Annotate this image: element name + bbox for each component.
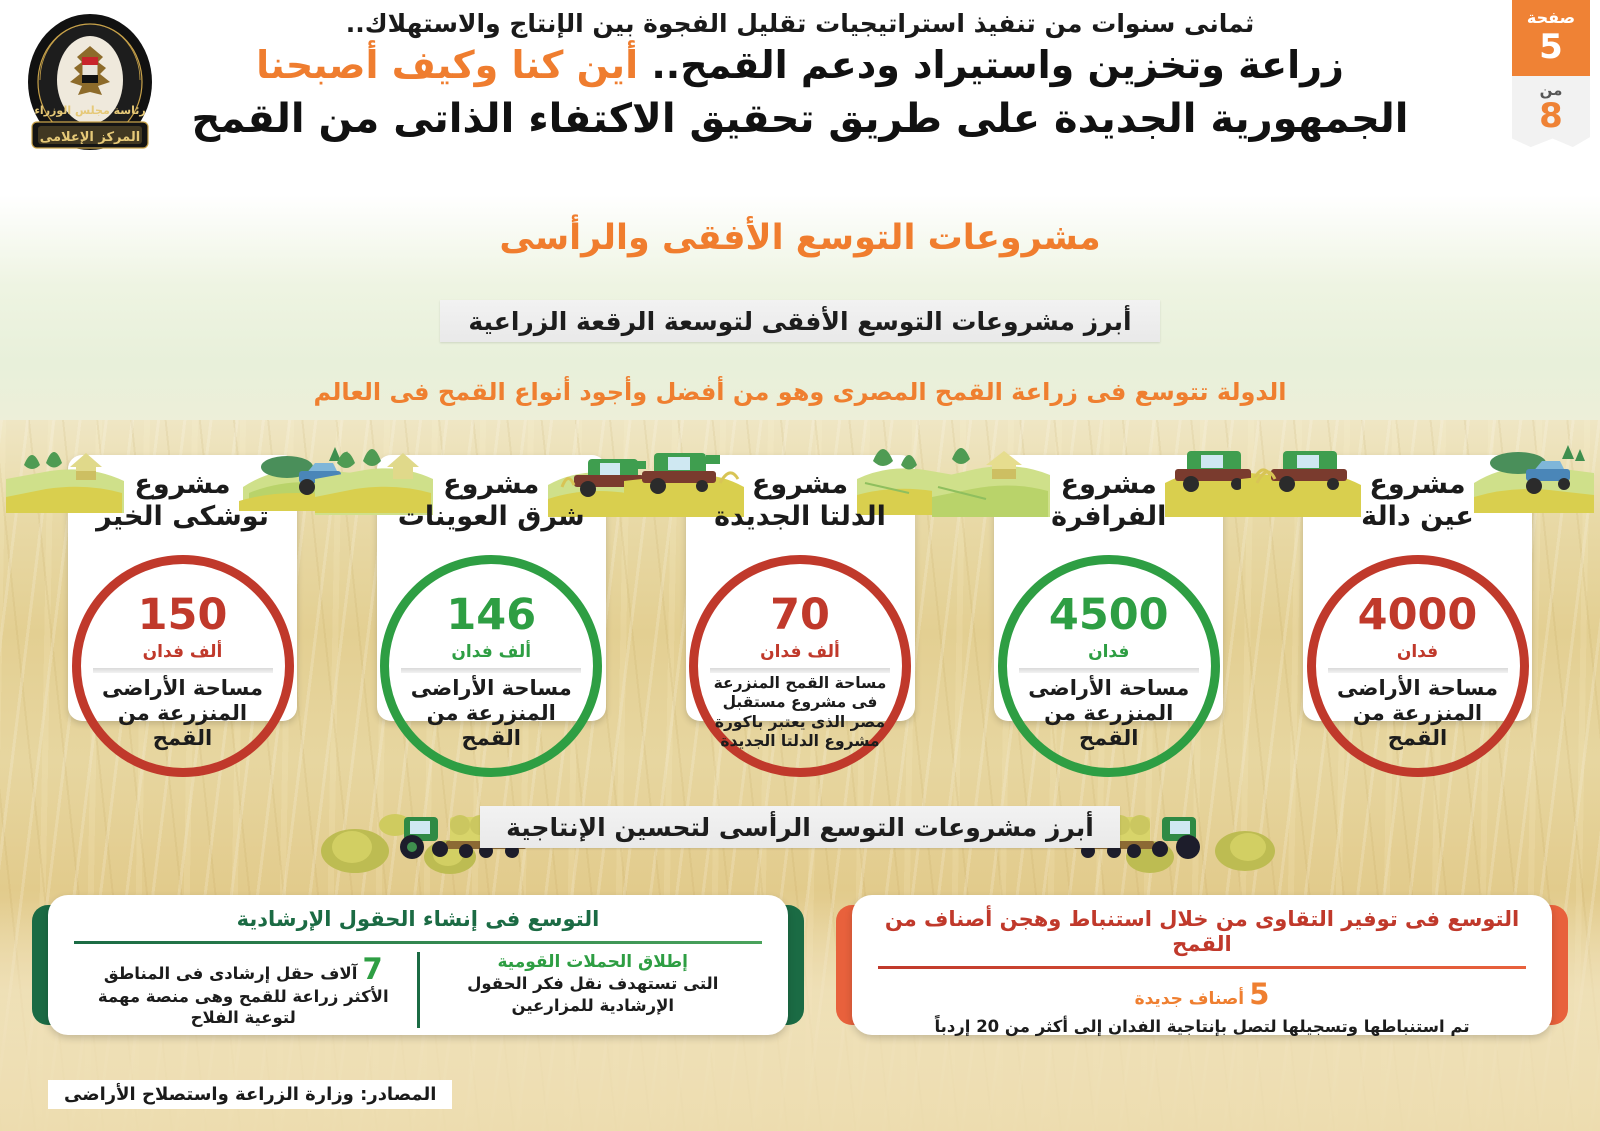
card-description: مساحة الأراضى المنزرعة من القمح (87, 676, 279, 752)
campaigns-heading: إطلاق الحملات القومية (430, 952, 757, 973)
card-title-line2: توشكى الخير (40, 501, 325, 533)
page-label: صفحة (1512, 9, 1590, 27)
panel-title: التوسع فى إنشاء الحقول الإرشادية (70, 907, 766, 932)
panel-content: التوسع فى توفير التقاوى من خلال استنباط … (852, 895, 1552, 1035)
card-title-line1: مشروع (658, 469, 943, 501)
horizontal-lead-text: الدولة تتوسع فى زراعة القمح المصرى وهو م… (0, 378, 1600, 406)
card-title: مشروع الفرافرة (966, 469, 1251, 533)
card-title: مشروع توشكى الخير (40, 469, 325, 533)
page-header: ثمانى سنوات من تنفيذ استراتيجيات تقليل ا… (180, 8, 1420, 145)
fields-count-column: 7 آلاف حقل إرشادى فى المناطق الأكثر زراع… (70, 952, 417, 1028)
header-title-main: زراعة وتخزين واستيراد ودعم القمح.. (651, 43, 1344, 87)
card-stat-circle: 4000 فدان مساحة الأراضى المنزرعة من القم… (1307, 555, 1529, 777)
card-unit: فدان (1007, 642, 1211, 662)
infographic-page: المركز الإعلامى رئاسة مجلس الوزراء صفحة … (0, 0, 1600, 1131)
panel-rule (74, 941, 762, 944)
card-title: مشروع الدلتا الجديدة (658, 469, 943, 533)
project-card[interactable]: مشروع توشكى الخير 150 ألف فدان مساحة الأ… (40, 437, 325, 787)
varieties-description: تم استنباطها وتسجيلها لتصل بإنتاجية الفد… (874, 1016, 1530, 1037)
card-value: 4500 (1007, 594, 1211, 637)
header-title-line2: زراعة وتخزين واستيراد ودعم القمح.. أين ك… (180, 41, 1420, 90)
card-description: مساحة الأراضى المنزرعة من القمح (1322, 676, 1514, 752)
vertical-expansion-ribbon: أبرز مشروعات التوسع الرأسى لتحسين الإنتا… (480, 806, 1120, 848)
header-subtitle: ثمانى سنوات من تنفيذ استراتيجيات تقليل ا… (180, 8, 1420, 39)
fields-count: 7 (362, 952, 382, 986)
card-value: 150 (81, 594, 285, 637)
project-card[interactable]: مشروع شرق العوينات 146 ألف فدان مساحة ال… (349, 437, 634, 787)
header-title-accent: أين كنا وكيف أصبحنا (256, 43, 638, 87)
card-unit: ألف فدان (81, 642, 285, 662)
card-description: مساحة القمح المنزرعة فى مشروع مستقبل مصر… (710, 674, 890, 752)
fields-count-text: آلاف حقل إرشادى فى المناطق الأكثر زراعة … (98, 964, 389, 1027)
card-divider (1328, 668, 1508, 673)
card-stat-circle: 70 ألف فدان مساحة القمح المنزرعة فى مشرو… (689, 555, 911, 777)
panel-title: التوسع فى توفير التقاوى من خلال استنباط … (874, 907, 1530, 957)
panel-content: التوسع فى إنشاء الحقول الإرشادية 7 آلاف … (48, 895, 788, 1035)
card-title-line1: مشروع (966, 469, 1251, 501)
national-campaigns-column: إطلاق الحملات القومية التى تستهدف نقل فك… (417, 952, 767, 1028)
egypt-cabinet-media-center-logo: المركز الإعلامى رئاسة مجلس الوزراء (18, 10, 163, 175)
project-card[interactable]: مشروع عين دالة 4000 فدان مساحة الأراضى ا… (1275, 437, 1560, 787)
card-divider (1019, 668, 1199, 673)
card-title-line2: شرق العوينات (349, 501, 634, 533)
page-badge-total: من 8 (1512, 76, 1590, 148)
card-divider (710, 668, 890, 673)
panel-rule (878, 966, 1526, 969)
card-title-line1: مشروع (1275, 469, 1560, 501)
card-value: 4000 (1316, 594, 1520, 637)
project-card[interactable]: مشروع الدلتا الجديدة 70 ألف فدان مساحة ا… (658, 437, 943, 787)
horizontal-expansion-ribbon: أبرز مشروعات التوسع الأفقى لتوسعة الرقعة… (440, 300, 1160, 342)
section-title: مشروعات التوسع الأفقى والرأسى (0, 218, 1600, 258)
card-title-line2: الدلتا الجديدة (658, 501, 943, 533)
card-unit: ألف فدان (698, 642, 902, 662)
panel-columns: 7 آلاف حقل إرشادى فى المناطق الأكثر زراع… (70, 952, 766, 1028)
card-title-line2: الفرافرة (966, 501, 1251, 533)
card-divider (401, 668, 581, 673)
source-line: المصادر: وزارة الزراعة واستصلاح الأراضى (48, 1080, 452, 1109)
page-number: 5 (1512, 30, 1590, 64)
card-stat-circle: 150 ألف فدان مساحة الأراضى المنزرعة من ا… (72, 555, 294, 777)
card-description: مساحة الأراضى المنزرعة من القمح (1013, 676, 1205, 752)
card-description: مساحة الأراضى المنزرعة من القمح (395, 676, 587, 752)
card-unit: فدان (1316, 642, 1520, 662)
card-unit: ألف فدان (389, 642, 593, 662)
card-divider (93, 668, 273, 673)
card-title: مشروع عين دالة (1275, 469, 1560, 533)
card-title-line2: عين دالة (1275, 501, 1560, 533)
card-title-line1: مشروع (349, 469, 634, 501)
demonstration-fields-panel: التوسع فى إنشاء الحقول الإرشادية 7 آلاف … (48, 895, 788, 1035)
card-title: مشروع شرق العوينات (349, 469, 634, 533)
campaigns-text: التى تستهدف نقل فكر الحقول الإرشادية للم… (430, 973, 757, 1015)
card-value: 70 (698, 594, 902, 637)
page-badge-current: صفحة 5 (1512, 0, 1590, 76)
projects-row: مشروع توشكى الخير 150 ألف فدان مساحة الأ… (40, 437, 1560, 787)
card-value: 146 (389, 594, 593, 637)
card-title-line1: مشروع (40, 469, 325, 501)
page-badge: صفحة 5 من 8 (1512, 0, 1590, 147)
page-total: 8 (1512, 99, 1590, 133)
varieties-count: 5 (1249, 977, 1269, 1011)
card-stat-circle: 146 ألف فدان مساحة الأراضى المنزرعة من ا… (380, 555, 602, 777)
svg-text:المركز الإعلامى: المركز الإعلامى (40, 130, 140, 145)
seed-varieties-panel: التوسع فى توفير التقاوى من خلال استنباط … (852, 895, 1552, 1035)
project-card[interactable]: مشروع الفرافرة 4500 فدان مساحة الأراضى ا… (966, 437, 1251, 787)
varieties-count-label: أصناف جديدة (1135, 989, 1245, 1009)
svg-text:رئاسة مجلس الوزراء: رئاسة مجلس الوزراء (34, 104, 145, 117)
card-stat-circle: 4500 فدان مساحة الأراضى المنزرعة من القم… (998, 555, 1220, 777)
header-title-line3: الجمهورية الجديدة على طريق تحقيق الاكتفا… (180, 93, 1420, 145)
